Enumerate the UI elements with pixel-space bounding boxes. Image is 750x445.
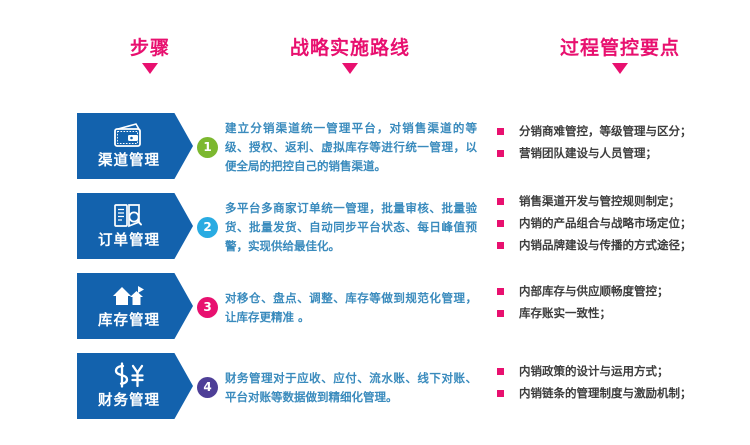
step-number-1: 1 (197, 137, 218, 158)
list-item: 营销团队建设与人员管理； (497, 142, 747, 164)
warehouse-icon (77, 280, 193, 312)
list-item: 库存账实一致性； (497, 302, 747, 324)
header-control: 过程管控要点 (495, 36, 745, 74)
square-bullet-icon (497, 288, 504, 295)
list-item: 内销品牌建设与传播的方式途径； (497, 234, 747, 256)
square-bullet-icon (497, 198, 504, 205)
column-headers: 步骤 战略实施路线 过程管控要点 (0, 36, 750, 86)
step-description: 建立分销渠道统一管理平台，对销售渠道的等级、授权、返利、虚拟库存等进行统一管理，… (225, 119, 477, 176)
list-item-label: 销售渠道开发与管控规则制定； (519, 194, 680, 208)
currency-icon (77, 360, 193, 392)
header-route-label: 战略实施路线 (225, 36, 475, 60)
header-steps-label: 步骤 (60, 36, 240, 60)
caret-down-icon (612, 63, 628, 74)
control-points-list: 销售渠道开发与管控规则制定； 内销的产品组合与战略市场定位； 内销品牌建设与传播… (497, 190, 747, 256)
header-steps: 步骤 (60, 36, 240, 74)
step-badge-label: 财务管理 (77, 392, 193, 410)
step-description: 财务管理对于应收、应付、流水账、线下对账、平台对账等数据做到精细化管理。 (225, 369, 477, 407)
list-item-label: 内部库存与供应顺畅度管控； (519, 284, 669, 298)
square-bullet-icon (497, 368, 504, 375)
step-rows: 渠道管理 1 建立分销渠道统一管理平台，对销售渠道的等级、授权、返利、虚拟库存等… (0, 105, 750, 425)
list-item-label: 营销团队建设与人员管理； (519, 146, 657, 160)
step-badge-finance[interactable]: 财务管理 (77, 353, 193, 419)
list-item-label: 内销品牌建设与传播的方式途径； (519, 238, 692, 252)
step-badge-order[interactable]: 订单管理 (77, 193, 193, 259)
list-item-label: 内销链条的管理制度与激励机制； (519, 386, 692, 400)
wallet-icon (77, 120, 193, 152)
control-points-list: 内销政策的设计与运用方式； 内销链条的管理制度与激励机制； (497, 360, 747, 404)
step-description: 对移仓、盘点、调整、库存等做到规范化管理，让库存更精准 。 (225, 289, 477, 327)
step-description: 多平台多商家订单统一管理，批量审核、批量验货、批量发货、自动同步平台状态、每日峰… (225, 199, 477, 256)
step-row: 渠道管理 1 建立分销渠道统一管理平台，对销售渠道的等级、授权、返利、虚拟库存等… (0, 105, 750, 185)
list-item: 分销商难管控，等级管理与区分； (497, 120, 747, 142)
list-item: 内部库存与供应顺畅度管控； (497, 280, 747, 302)
step-row: 财务管理 4 财务管理对于应收、应付、流水账、线下对账、平台对账等数据做到精细化… (0, 345, 750, 425)
control-points-list: 内部库存与供应顺畅度管控； 库存账实一致性； (497, 280, 747, 324)
caret-down-icon (342, 63, 358, 74)
header-control-label: 过程管控要点 (495, 36, 745, 60)
step-number-4: 4 (197, 377, 218, 398)
header-route: 战略实施路线 (225, 36, 475, 74)
step-badge-inventory[interactable]: 库存管理 (77, 273, 193, 339)
step-number-2: 2 (197, 217, 218, 238)
control-points-list: 分销商难管控，等级管理与区分； 营销团队建设与人员管理； (497, 120, 747, 164)
square-bullet-icon (497, 390, 504, 397)
list-item-label: 库存账实一致性； (519, 306, 611, 320)
caret-down-icon (142, 63, 158, 74)
document-search-icon (77, 200, 193, 232)
step-row: 库存管理 3 对移仓、盘点、调整、库存等做到规范化管理，让库存更精准 。 内部库… (0, 265, 750, 345)
square-bullet-icon (497, 220, 504, 227)
list-item-label: 内销政策的设计与运用方式； (519, 364, 669, 378)
square-bullet-icon (497, 150, 504, 157)
step-number-3: 3 (197, 297, 218, 318)
step-badge-label: 库存管理 (77, 312, 193, 330)
list-item-label: 分销商难管控，等级管理与区分； (519, 124, 692, 138)
list-item-label: 内销的产品组合与战略市场定位； (519, 216, 692, 230)
step-badge-label: 渠道管理 (77, 152, 193, 170)
square-bullet-icon (497, 128, 504, 135)
step-badge-label: 订单管理 (77, 232, 193, 250)
step-row: 订单管理 2 多平台多商家订单统一管理，批量审核、批量验货、批量发货、自动同步平… (0, 185, 750, 265)
list-item: 内销的产品组合与战略市场定位； (497, 212, 747, 234)
list-item: 销售渠道开发与管控规则制定； (497, 190, 747, 212)
list-item: 内销政策的设计与运用方式； (497, 360, 747, 382)
square-bullet-icon (497, 310, 504, 317)
square-bullet-icon (497, 242, 504, 249)
step-badge-channel[interactable]: 渠道管理 (77, 113, 193, 179)
list-item: 内销链条的管理制度与激励机制； (497, 382, 747, 404)
